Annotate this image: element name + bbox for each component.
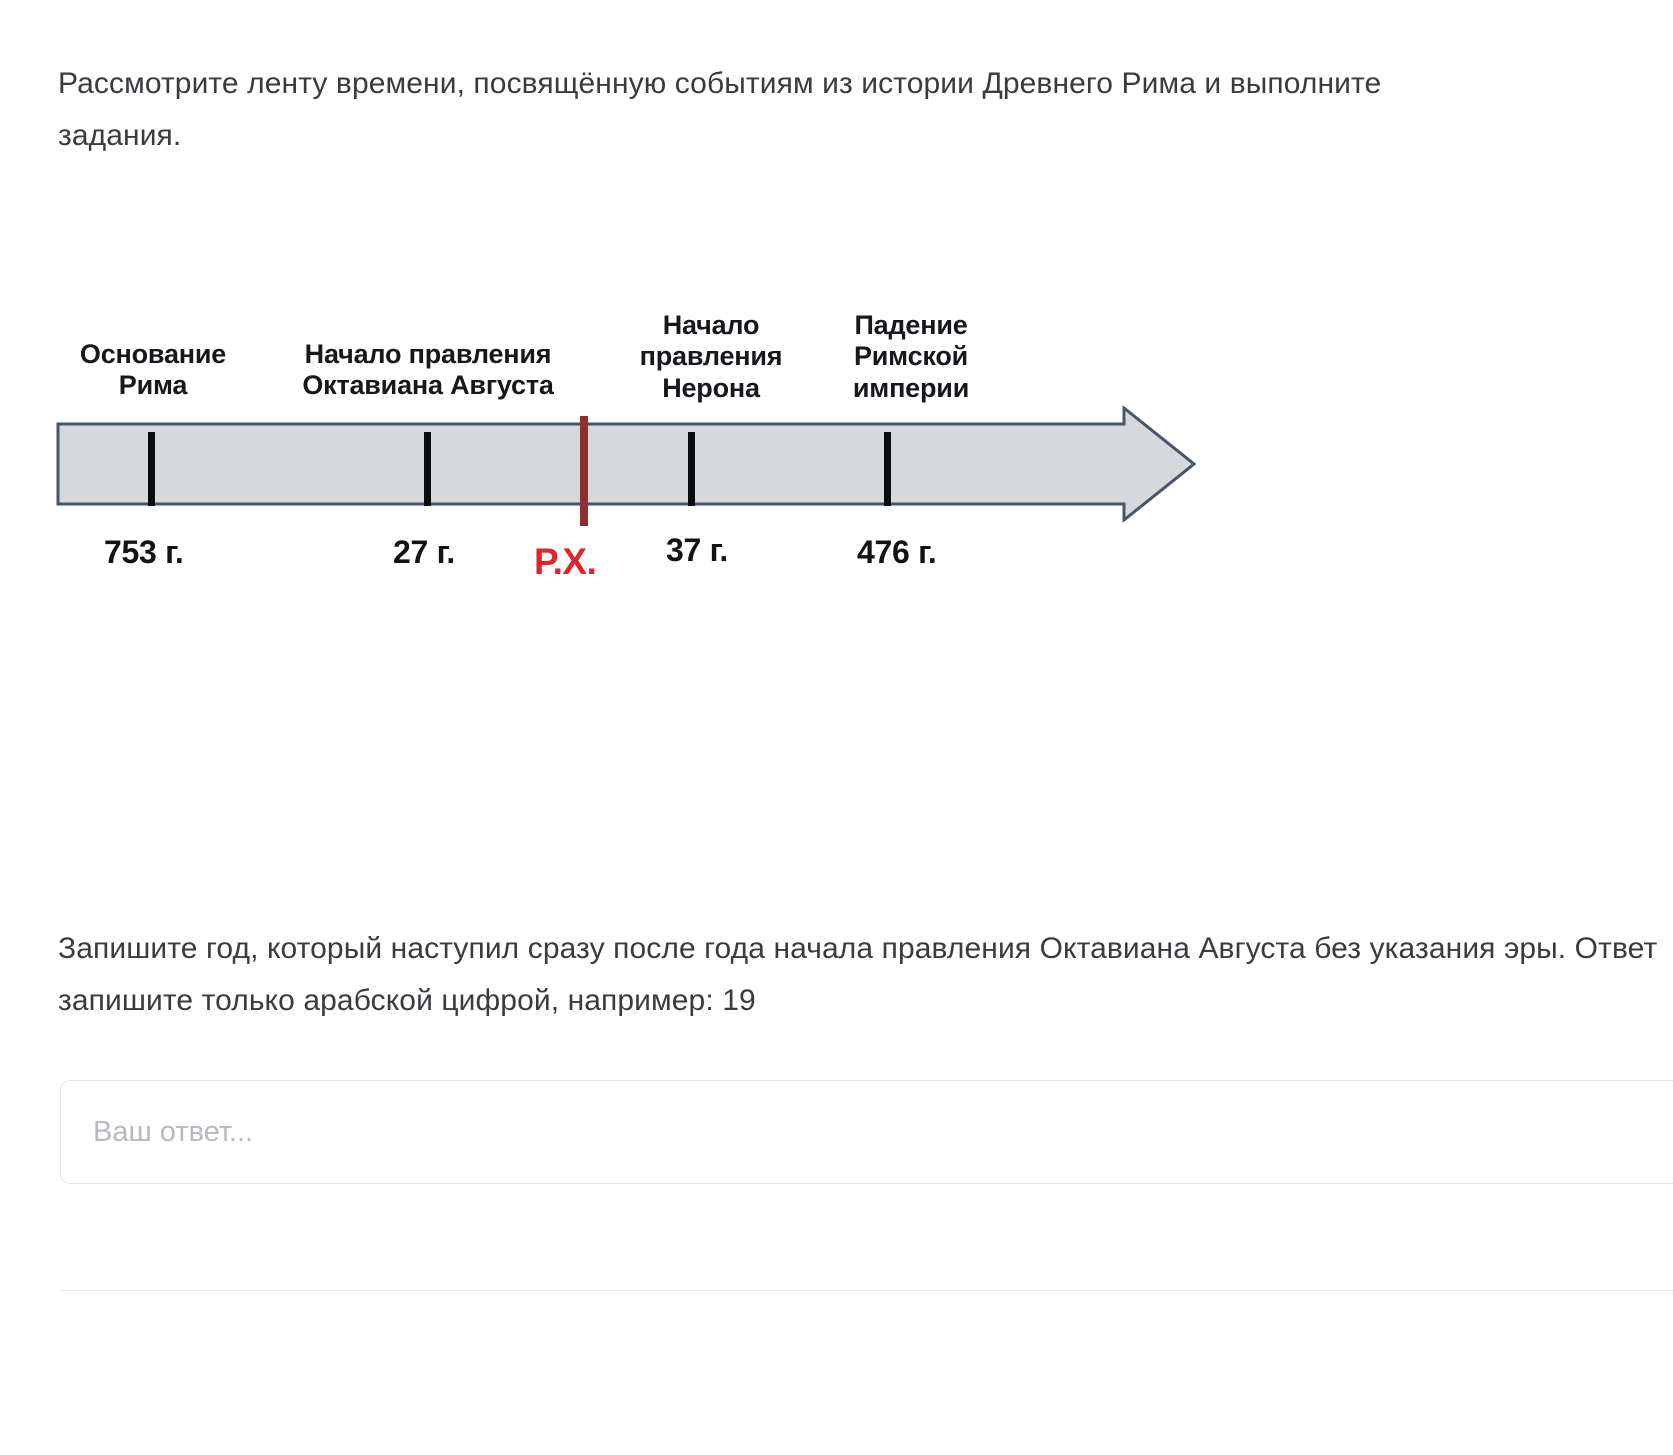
era-marker-line <box>580 416 588 526</box>
timeline-arrow <box>56 406 1196 522</box>
timeline-year-1: 753 г. <box>104 534 184 571</box>
timeline-tick-4 <box>884 432 891 506</box>
timeline-year-4: 476 г. <box>857 534 937 571</box>
answer-field-container[interactable] <box>60 1080 1673 1184</box>
timeline-tick-3 <box>688 432 695 506</box>
timeline-year-3: 37 г. <box>666 532 728 569</box>
section-divider <box>60 1290 1673 1291</box>
intro-paragraph: Рассмотрите ленту времени, посвящённую с… <box>58 58 1478 161</box>
timeline-tick-1 <box>148 432 155 506</box>
timeline-year-2: 27 г. <box>393 534 455 571</box>
timeline-event-label-2: Начало правления Октавиана Августа <box>282 339 574 402</box>
era-marker-label: Р.Х. <box>534 541 596 583</box>
timeline-tick-2 <box>424 432 431 506</box>
question-text: Запишите год, который наступил сразу пос… <box>58 923 1673 1026</box>
timeline-event-label-1: Основание Рима <box>60 339 246 402</box>
timeline-event-label-3: Начало правления Нерона <box>625 310 797 404</box>
answer-input[interactable] <box>61 1081 1673 1183</box>
timeline-event-label-4: Падение Римской империи <box>828 310 994 404</box>
timeline-figure: Основание Рима Начало правления Октавиан… <box>0 296 1250 616</box>
timeline-arrow-shape <box>56 406 1196 522</box>
